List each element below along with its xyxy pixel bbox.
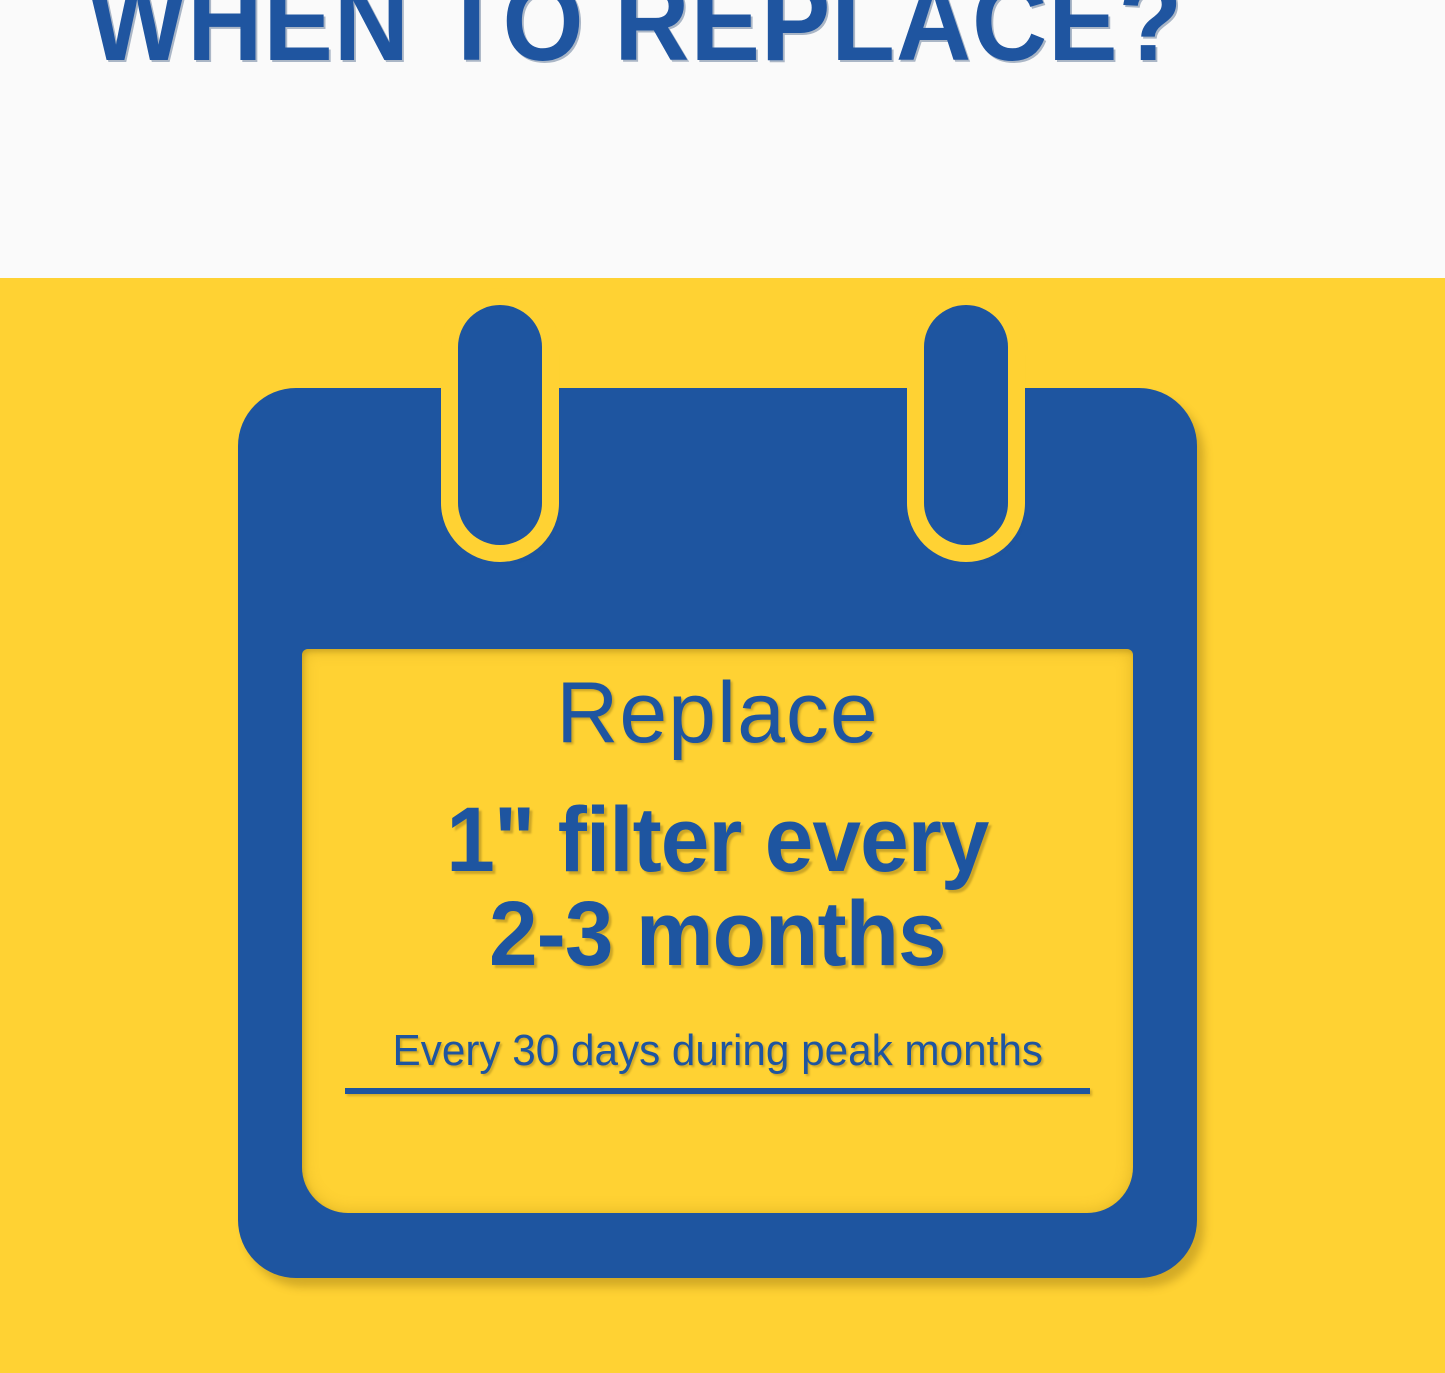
header-band: WHEN TO REPLACE? [0,0,1445,278]
calendar-icon: Replace 1" filter every 2-3 months Every… [238,388,1197,1278]
calendar-page-text: Replace 1" filter every 2-3 months Every… [302,649,1133,1213]
headline-line-1: 1" filter every [446,794,988,888]
replace-label: Replace [556,670,879,756]
caption-block: Every 30 days during peak months [345,1028,1090,1094]
calendar-ring-right-icon [924,305,1008,545]
yellow-panel: Replace 1" filter every 2-3 months Every… [0,278,1445,1373]
calendar-ring-left-icon [458,305,542,545]
caption-underline [345,1088,1090,1094]
headline: 1" filter every 2-3 months [446,794,988,982]
headline-line-2: 2-3 months [446,888,988,982]
calendar-page: Replace 1" filter every 2-3 months Every… [302,649,1133,1213]
page-title: WHEN TO REPLACE? [88,0,1183,78]
caption-text: Every 30 days during peak months [392,1028,1042,1074]
